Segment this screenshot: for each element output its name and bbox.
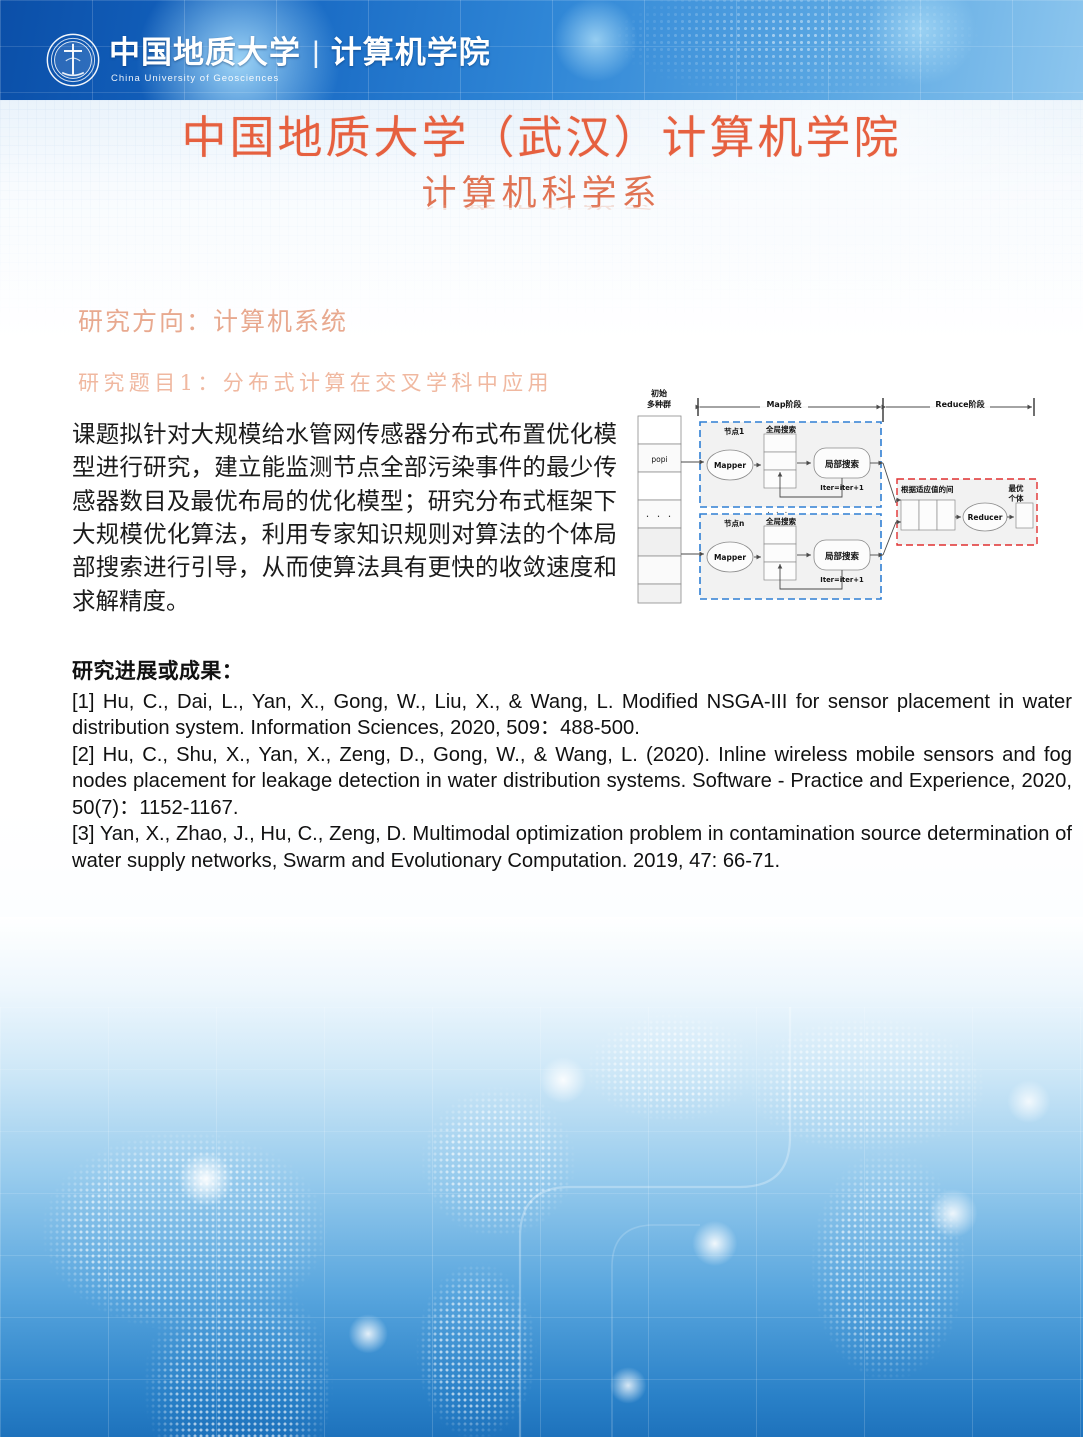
node1-local-search-label: 局部搜索 — [824, 459, 860, 470]
noden-local-search-label: 局部搜索 — [824, 551, 860, 562]
university-logo: 中国地质大学 | 计算机学院 China University of Geosc… — [46, 33, 491, 87]
reference-item: [2] Hu, C., Shu, X., Yan, X., Zeng, D., … — [72, 742, 1072, 821]
logo-college-name: 计算机学院 — [331, 37, 491, 70]
footer-light-points — [0, 1007, 1083, 1437]
mapreduce-diagram: 初始 多种群 popi . . . Map阶段 Reduce阶段 节点1 全局搜… — [630, 372, 1078, 620]
noden-global-search-label: 全局搜索 — [765, 516, 796, 526]
logo-english-name: China University of Geosciences — [111, 73, 491, 84]
results-heading: 研究进展或成果： — [72, 655, 1072, 685]
best-individual-label-line2: 个体 — [1008, 493, 1024, 503]
ellipsis-cell-label: . . . — [646, 507, 673, 520]
logo-divider: | — [312, 36, 320, 70]
mapreduce-diagram-svg: 初始 多种群 popi . . . Map阶段 Reduce阶段 节点1 全局搜… — [630, 372, 1078, 620]
reducer-label: Reducer — [968, 513, 1003, 522]
page-title: 中国地质大学（武汉）计算机学院 — [0, 108, 1083, 168]
best-individual-label-line1: 最优 — [1009, 483, 1024, 493]
pop-cell-label: popi — [651, 455, 667, 464]
reduce-buffer-cells — [901, 500, 955, 530]
node1-label: 节点1 — [724, 426, 744, 436]
poster-title-block: 中国地质大学（武汉）计算机学院 计算机科学系 计算机科学系 — [0, 108, 1083, 235]
research-description-paragraph: 课题拟针对大规模给水管网传感器分布式布置优化模型进行研究，建立能监测节点全部污染… — [72, 418, 617, 618]
reduce-phase-label: Reduce阶段 — [935, 399, 984, 409]
map-phase-label: Map阶段 — [766, 399, 801, 409]
best-individual-cell — [1016, 503, 1033, 528]
reference-item: [1] Hu, C., Dai, L., Yan, X., Gong, W., … — [72, 689, 1072, 742]
research-results-section: 研究进展或成果： [1] Hu, C., Dai, L., Yan, X., G… — [72, 655, 1072, 874]
initial-population-label-line1: 初始 — [651, 388, 667, 398]
node1-mapper-label: Mapper — [714, 461, 746, 470]
page-subtitle-reflection: 计算机科学系 — [0, 205, 1083, 215]
noden-label: 节点n — [724, 518, 744, 528]
research-direction-label: 研究方向：计算机系统 — [78, 302, 348, 338]
research-topic-heading: 研究题目1：分布式计算在交叉学科中应用 — [78, 367, 553, 397]
header-dotted-map-icon — [560, 0, 990, 110]
initial-population-label-line2: 多种群 — [647, 399, 671, 409]
node1-global-search-label: 全局搜索 — [765, 424, 796, 434]
sort-by-fitness-label: 根据适应值的间 — [901, 484, 954, 494]
logo-university-name: 中国地质大学 — [109, 37, 301, 70]
noden-mapper-label: Mapper — [714, 553, 746, 562]
university-seal-icon — [46, 33, 100, 87]
reference-item: [3] Yan, X., Zhao, J., Hu, C., Zeng, D. … — [72, 821, 1072, 874]
